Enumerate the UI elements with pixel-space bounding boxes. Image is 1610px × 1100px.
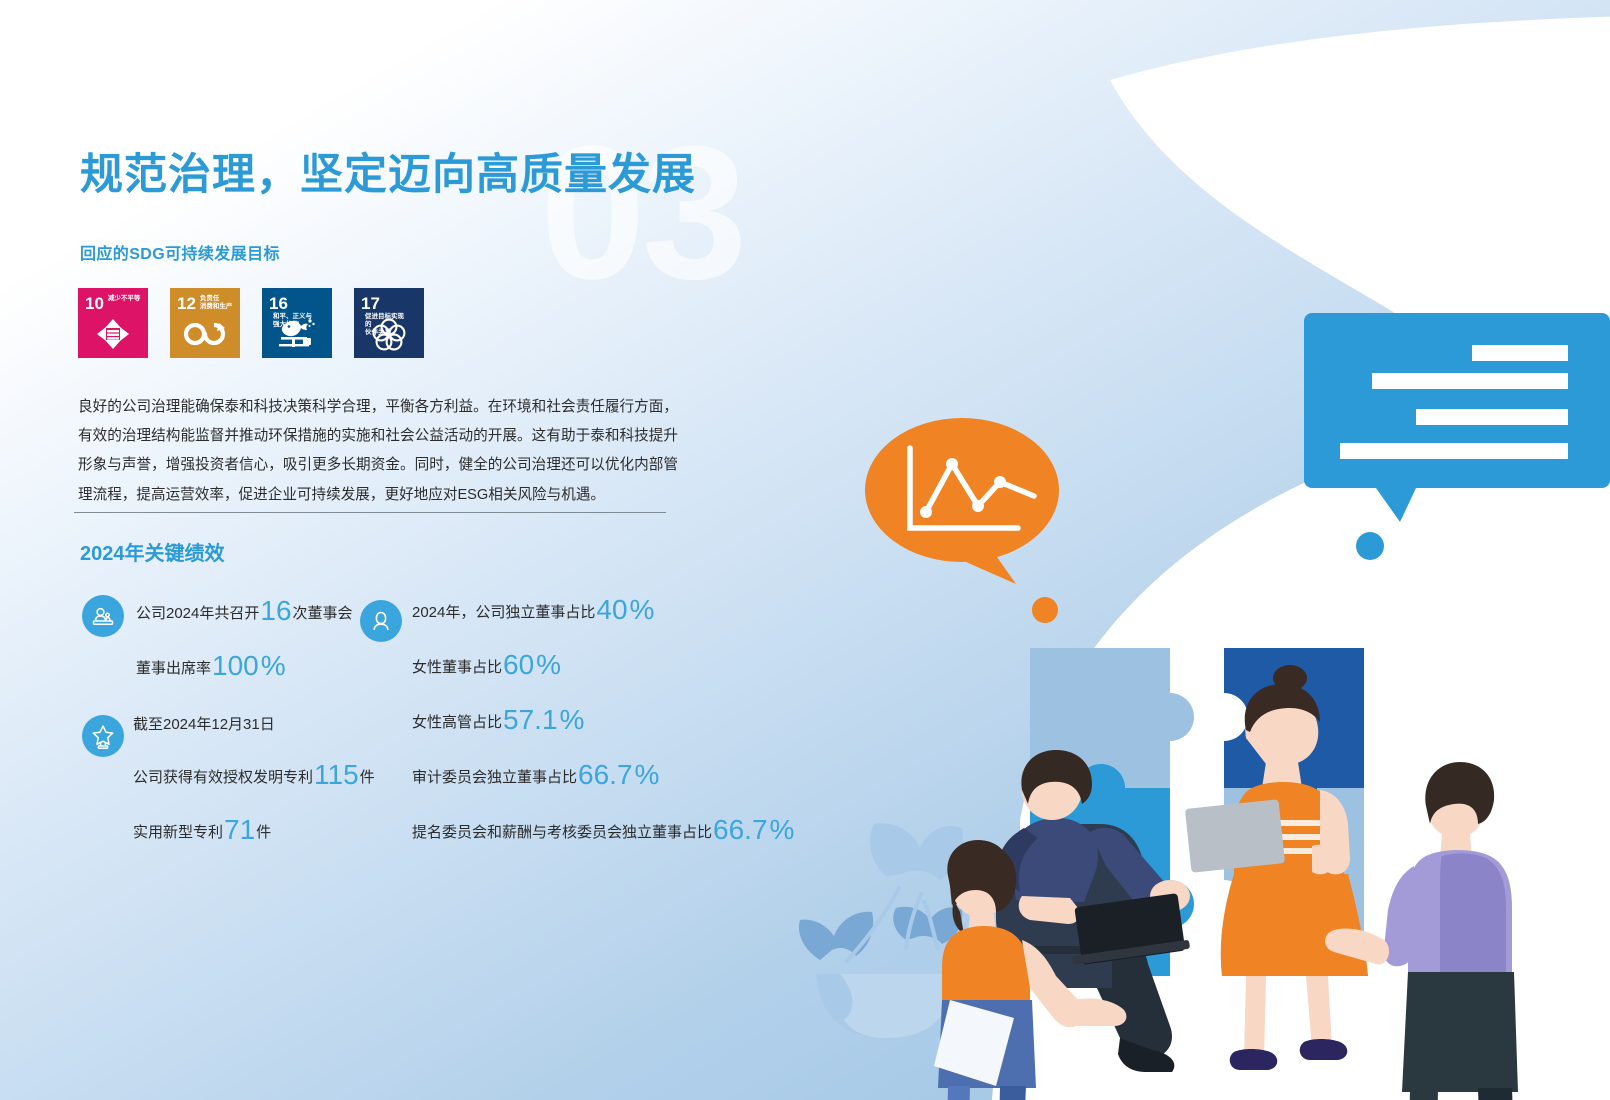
sdg-badge-17[interactable]: 17促进目标实现的 伙伴关系 [354,288,424,358]
kpi-line: 实用新型专利71件 [133,814,375,842]
diversity-person-icon [360,600,402,642]
sdg-section-title: 回应的SDG可持续发展目标 [80,240,280,264]
woman-with-document [932,840,1126,1100]
kpi-unit: % [770,816,795,844]
puzzle-piece-bottom-left [1030,764,1194,976]
sdg-number: 12 [177,295,196,312]
right-edge-white-cut [1380,0,1610,1100]
page-title: 规范治理，坚定迈向高质量发展 [80,140,696,202]
potted-monstera-plant [799,823,963,1038]
kpi-text-pre: 女性高管占比 [412,715,502,730]
sdg-number: 16 [269,295,288,312]
kpi-line: 女性董事占比60% [412,649,795,677]
kpi-text-pre: 公司2024年共召开 [136,606,259,621]
kpi-value: 40 [596,596,627,624]
kpi-group-board: 公司2024年共召开16次董事会 董事出席率100% [136,595,353,678]
kpi-text-post: 次董事会 [293,606,353,621]
reduced-inequalities-icon [78,314,148,354]
kpi-text-pre: 截至2024年12月31日 [133,717,275,732]
kpi-group-diversity: 2024年，公司独立董事占比40% 女性董事占比60% 女性高管占比57.1% … [412,594,795,842]
sdg-badge-row: 10减少不平等 12负责任 消费和生产 [78,288,424,358]
puzzle-piece-bottom-right [1224,788,1364,976]
kpi-group-patent: 截至2024年12月31日 公司获得有效授权发明专利115件 实用新型专利71件 [133,717,375,842]
kpi-value: 115 [314,761,359,789]
responsible-consumption-icon [170,314,240,354]
kpi-line: 审计委员会独立董事占比66.7% [412,759,795,787]
kpi-line: 女性高管占比57.1% [412,704,795,732]
body-paragraph: 良好的公司治理能确保泰和科技决策科学合理，平衡各方利益。在环境和社会责任履行方面… [78,393,678,510]
partnerships-icon [354,314,424,354]
kpi-value: 16 [260,597,291,625]
kpi-line: 公司获得有效授权发明专利115件 [133,759,375,787]
sdg-badge-10[interactable]: 10减少不平等 [78,288,148,358]
kpi-value: 66.7 [578,761,633,789]
kpi-line: 董事出席率100% [136,650,353,678]
kpi-unit: % [635,761,660,789]
kpi-value: 66.7 [713,816,768,844]
kpi-text-post: 件 [360,770,375,785]
kpi-unit: % [560,706,585,734]
section-divider [74,512,666,513]
kpi-line: 公司2024年共召开16次董事会 [136,595,353,623]
kpi-text-pre: 女性董事占比 [412,660,502,675]
orange-chart-speech-bubble [865,418,1059,623]
kpi-section-title: 2024年关键绩效 [80,537,225,566]
kpi-unit: % [536,651,561,679]
report-page: 03 规范治理，坚定迈向高质量发展 回应的SDG可持续发展目标 10减少不平等 … [0,0,1610,1100]
sdg-number: 10 [85,295,104,312]
kpi-line: 2024年，公司独立董事占比40% [412,594,795,622]
sdg-label: 减少不平等 [108,295,141,303]
patent-star-icon [82,715,124,757]
board-meeting-icon [82,595,124,637]
kpi-unit: % [630,596,655,624]
kpi-line: 提名委员会和薪酬与考核委员会独立董事占比66.7% [412,814,795,842]
puzzle-piece-top-left [1030,648,1194,788]
kpi-text-post: 件 [256,825,271,840]
kpi-value: 71 [224,816,255,844]
seated-man-with-laptop [996,750,1190,1072]
sdg-number: 17 [361,295,380,312]
kpi-text-pre: 提名委员会和薪酬与考核委员会独立董事占比 [412,825,712,840]
kpi-value: 57.1 [503,706,558,734]
kpi-value: 100 [212,652,259,680]
kpi-unit: % [261,652,286,680]
peace-justice-icon [262,314,332,354]
kpi-line: 截至2024年12月31日 [133,717,375,732]
sdg-badge-16[interactable]: 16和平、正义与 强大机构 [262,288,332,358]
kpi-text-pre: 审计委员会独立董事占比 [412,770,577,785]
puzzle-piece-top-right [1224,648,1364,812]
kpi-text-pre: 2024年，公司独立董事占比 [412,605,595,620]
sdg-label: 负责任 消费和生产 [200,295,233,311]
kpi-value: 60 [503,651,534,679]
kpi-text-pre: 实用新型专利 [133,825,223,840]
standing-woman-with-tablet [1185,665,1368,1070]
sdg-badge-12[interactable]: 12负责任 消费和生产 [170,288,240,358]
kpi-text-pre: 董事出席率 [136,661,211,676]
kpi-text-pre: 公司获得有效授权发明专利 [133,770,313,785]
